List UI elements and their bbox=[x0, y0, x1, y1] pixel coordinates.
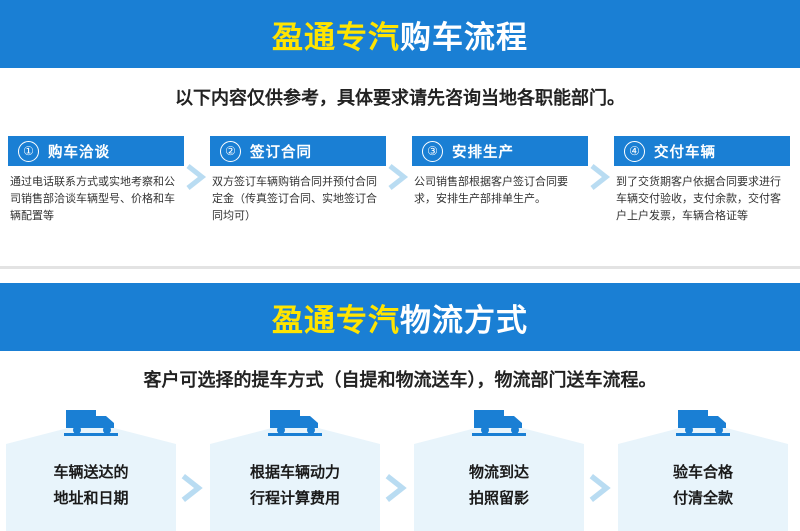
step-card-4: ④ 交付车辆 到了交货期客户依据合同要求进行车辆交付验收，支付余款，交付客户上户… bbox=[614, 136, 790, 225]
step-number-badge: ③ bbox=[422, 141, 443, 162]
logistics-arrow-3 bbox=[584, 404, 618, 531]
step-card-3-header: ③ 安排生产 bbox=[412, 136, 588, 166]
logistics-card-2-line2: 行程计算费用 bbox=[210, 486, 380, 512]
chevron-right-icon bbox=[181, 474, 205, 502]
truck-icon bbox=[676, 404, 730, 436]
logistics-card-4-text: 验车合格 付清全款 bbox=[618, 460, 788, 512]
logistics-card-1: 车辆送达的 地址和日期 bbox=[6, 404, 176, 531]
step-title: 购车洽谈 bbox=[48, 141, 110, 162]
section-divider bbox=[0, 266, 800, 269]
step-arrow-1 bbox=[184, 136, 210, 190]
chevron-right-icon bbox=[589, 474, 613, 502]
step-number-badge: ② bbox=[220, 141, 241, 162]
logistics-card-3-line2: 拍照留影 bbox=[414, 486, 584, 512]
logistics-arrow-1 bbox=[176, 404, 210, 531]
logistics-card-1-line2: 地址和日期 bbox=[6, 486, 176, 512]
section-2-title: 盈通专汽物流方式 bbox=[272, 295, 528, 340]
step-card-1: ① 购车洽谈 通过电话联系方式或实地考察和公司销售部洽谈车辆型号、价格和车辆配置… bbox=[8, 136, 184, 225]
chevron-right-icon bbox=[186, 164, 208, 190]
section-2-title-rest: 物流方式 bbox=[400, 303, 528, 338]
step-card-3: ③ 安排生产 公司销售部根据客户签订合同要求，安排生产部排单生产。 bbox=[412, 136, 588, 208]
logistics-card-4-line2: 付清全款 bbox=[618, 486, 788, 512]
step-arrow-3 bbox=[588, 136, 614, 190]
logistics-card-3: 物流到达 拍照留影 bbox=[414, 404, 584, 531]
logistics-card-4: 验车合格 付清全款 bbox=[618, 404, 788, 531]
step-body: 到了交货期客户依据合同要求进行车辆交付验收，支付余款，交付客户上户发票，车辆合格… bbox=[614, 166, 790, 225]
step-title: 安排生产 bbox=[452, 141, 514, 162]
step-number-badge: ④ bbox=[624, 141, 645, 162]
purchase-steps-list: ① 购车洽谈 通过电话联系方式或实地考察和公司销售部洽谈车辆型号、价格和车辆配置… bbox=[8, 136, 792, 246]
step-title: 签订合同 bbox=[250, 141, 312, 162]
step-card-2-header: ② 签订合同 bbox=[210, 136, 386, 166]
step-arrow-2 bbox=[386, 136, 412, 190]
section-2-title-highlight: 盈通专汽 bbox=[272, 303, 400, 338]
section-1-title: 盈通专汽购车流程 bbox=[272, 12, 528, 57]
logistics-card-4-line1: 验车合格 bbox=[618, 460, 788, 486]
step-card-4-header: ④ 交付车辆 bbox=[614, 136, 790, 166]
logistics-card-2-text: 根据车辆动力 行程计算费用 bbox=[210, 460, 380, 512]
logistics-card-3-text: 物流到达 拍照留影 bbox=[414, 460, 584, 512]
truck-icon bbox=[268, 404, 322, 436]
step-card-1-header: ① 购车洽谈 bbox=[8, 136, 184, 166]
step-body: 公司销售部根据客户签订合同要求，安排生产部排单生产。 bbox=[412, 166, 588, 208]
step-title: 交付车辆 bbox=[654, 141, 716, 162]
section-2-title-band: 盈通专汽物流方式 bbox=[0, 283, 800, 351]
chevron-right-icon bbox=[590, 164, 612, 190]
section-1-caption: 以下内容仅供参考，具体要求请先咨询当地各职能部门。 bbox=[0, 84, 800, 110]
truck-icon bbox=[472, 404, 526, 436]
step-card-2: ② 签订合同 双方签订车辆购销合同并预付合同定金（传真签订合同、实地签订合同均可… bbox=[210, 136, 386, 225]
section-2-caption: 客户可选择的提车方式（自提和物流送车），物流部门送车流程。 bbox=[0, 366, 800, 392]
logistics-card-3-line1: 物流到达 bbox=[414, 460, 584, 486]
logistics-cards-list: 车辆送达的 地址和日期 根据车辆动力 行程计算费用 bbox=[6, 404, 794, 531]
step-body: 通过电话联系方式或实地考察和公司销售部洽谈车辆型号、价格和车辆配置等 bbox=[8, 166, 184, 225]
step-body: 双方签订车辆购销合同并预付合同定金（传真签订合同、实地签订合同均可） bbox=[210, 166, 386, 225]
truck-icon bbox=[64, 404, 118, 436]
step-number-badge: ① bbox=[18, 141, 39, 162]
section-1-title-band: 盈通专汽购车流程 bbox=[0, 0, 800, 68]
section-1-title-highlight: 盈通专汽 bbox=[272, 20, 400, 55]
logistics-arrow-2 bbox=[380, 404, 414, 531]
logistics-card-1-line1: 车辆送达的 bbox=[6, 460, 176, 486]
chevron-right-icon bbox=[385, 474, 409, 502]
chevron-right-icon bbox=[388, 164, 410, 190]
logistics-card-1-text: 车辆送达的 地址和日期 bbox=[6, 460, 176, 512]
logistics-card-2: 根据车辆动力 行程计算费用 bbox=[210, 404, 380, 531]
page-root: 盈通专汽购车流程 以下内容仅供参考，具体要求请先咨询当地各职能部门。 ① 购车洽… bbox=[0, 0, 800, 531]
section-1-title-rest: 购车流程 bbox=[400, 20, 528, 55]
logistics-card-2-line1: 根据车辆动力 bbox=[210, 460, 380, 486]
